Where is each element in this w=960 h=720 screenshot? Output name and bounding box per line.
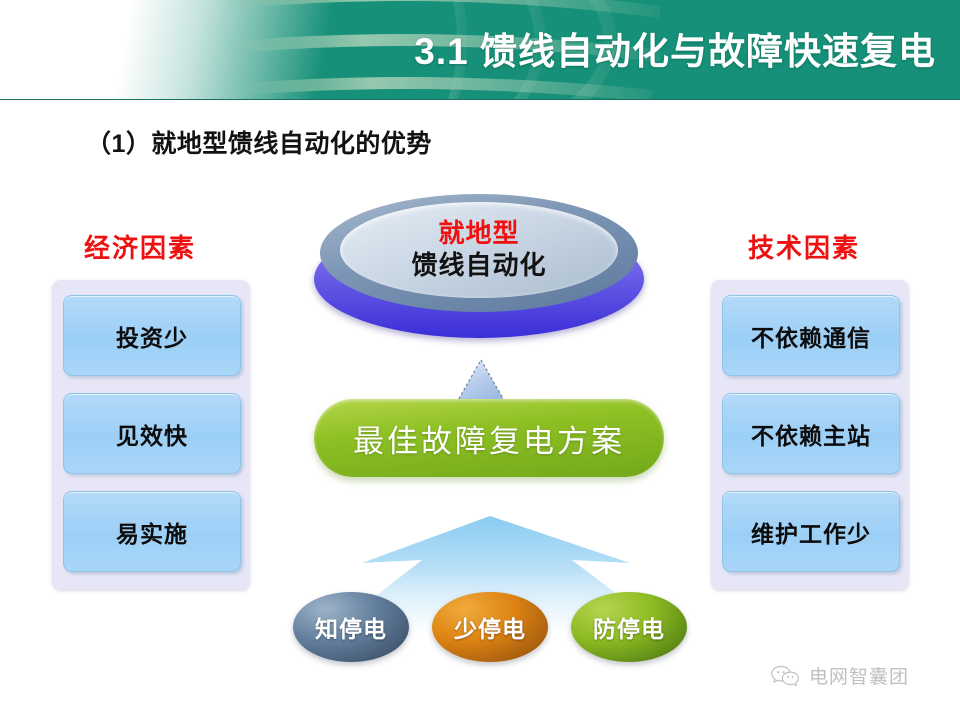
disc-label-group: 就地型 馈线自动化 xyxy=(340,202,618,298)
left-factor-item-1-label: 投资少 xyxy=(116,319,188,353)
left-factor-item-2[interactable]: 见效快 xyxy=(63,393,241,474)
right-factor-item-1[interactable]: 不依赖通信 xyxy=(722,295,900,376)
green-solution-banner-label: 最佳故障复电方案 xyxy=(353,416,625,461)
page-title: 3.1 馈线自动化与故障快速复电 xyxy=(414,30,936,74)
right-factor-panel: 不依赖通信 不依赖主站 维护工作少 xyxy=(711,280,909,590)
watermark-text: 电网智囊团 xyxy=(809,662,909,689)
right-factor-item-1-label: 不依赖通信 xyxy=(751,319,871,353)
outcome-oval-1[interactable]: 知停电 xyxy=(293,592,409,662)
central-disc: 就地型 馈线自动化 xyxy=(310,190,648,342)
left-factor-item-1[interactable]: 投资少 xyxy=(63,295,241,376)
right-column-title: 技术因素 xyxy=(748,228,860,265)
header-divider xyxy=(0,99,960,100)
right-factor-item-3-label: 维护工作少 xyxy=(751,515,871,549)
outcome-oval-1-label: 知停电 xyxy=(315,610,387,644)
section-subtitle: （1）就地型馈线自动化的优势 xyxy=(86,124,432,160)
green-solution-banner[interactable]: 最佳故障复电方案 xyxy=(314,399,664,477)
slide: 3.1 馈线自动化与故障快速复电 （1）就地型馈线自动化的优势 经济因素 投资少… xyxy=(0,0,960,720)
watermark: 电网智囊团 xyxy=(770,662,909,689)
wechat-icon xyxy=(770,664,800,688)
right-factor-item-3[interactable]: 维护工作少 xyxy=(722,491,900,572)
left-column-title: 经济因素 xyxy=(84,228,196,265)
outcome-oval-3-label: 防停电 xyxy=(593,610,665,644)
disc-label-line2: 馈线自动化 xyxy=(411,248,546,282)
left-factor-item-2-label: 见效快 xyxy=(116,417,188,451)
right-factor-item-2[interactable]: 不依赖主站 xyxy=(722,393,900,474)
left-factor-panel: 投资少 见效快 易实施 xyxy=(52,280,250,590)
left-factor-item-3-label: 易实施 xyxy=(116,515,188,549)
slide-header: 3.1 馈线自动化与故障快速复电 xyxy=(0,0,960,100)
outcome-oval-2[interactable]: 少停电 xyxy=(432,592,548,662)
disc-label-line1: 就地型 xyxy=(438,218,519,248)
left-factor-item-3[interactable]: 易实施 xyxy=(63,491,241,572)
triangle-up-icon xyxy=(455,358,507,404)
right-factor-item-2-label: 不依赖主站 xyxy=(751,417,871,451)
outcome-oval-2-label: 少停电 xyxy=(454,610,526,644)
outcome-oval-3[interactable]: 防停电 xyxy=(571,592,687,662)
